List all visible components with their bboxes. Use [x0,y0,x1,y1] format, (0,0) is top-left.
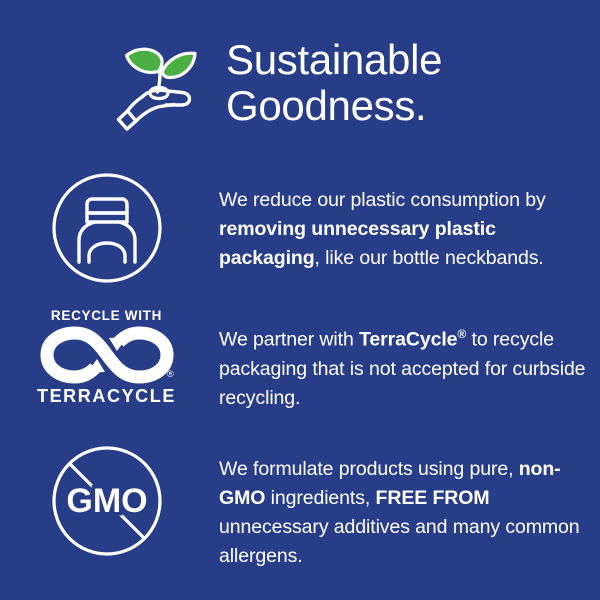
feature-row-plastic: We reduce our plastic consumption by rem… [0,172,600,284]
gmo-label: GMO [66,482,147,520]
terracycle-logo-icon: RECYCLE WITH ® TERRACYCLE [32,308,182,406]
text-seg-plain-3: We partner with [219,329,359,351]
hand-holding-sprout-icon [112,37,216,133]
bottle-neckband-circle-icon [51,172,163,284]
text-seg-bold-2: TerraCycle [359,329,457,351]
text-seg-plain-1: We reduce our plastic consumption by [219,189,546,211]
icon-cell-gmo: GMO [0,445,219,557]
registered-mark-glyph: ® [167,369,174,379]
icon-cell-plastic [0,172,219,284]
text-seg-plain-6: ingredients, [265,487,375,509]
text-seg-plain-7: unnecessary additives and many common al… [219,516,580,567]
feature-row-gmo: GMO We formulate products using pure, no… [0,445,600,571]
feature-text-gmo: We formulate products using pure, non-GM… [219,445,600,571]
terracycle-top-label: RECYCLE WITH [51,308,162,323]
text-seg-bold-4: FREE FROM [376,487,490,509]
feature-text-terracycle: We partner with TerraCycle® to recycle p… [219,308,600,413]
sustainable-goodness-panel: Sustainable Goodness. We reduce our plas… [0,0,600,600]
feature-text-plastic: We reduce our plastic consumption by rem… [219,172,600,273]
no-gmo-circle-icon: GMO [51,445,163,557]
terracycle-bottom-label: TERRACYCLE [37,386,176,406]
text-seg-registered: ® [457,327,466,341]
page-title: Sustainable Goodness. [226,37,442,129]
text-seg-plain-2: , like our bottle neckbands. [315,247,544,269]
header: Sustainable Goodness. [0,24,600,142]
feature-row-terracycle: RECYCLE WITH ® TERRACYCLE We partner wit… [0,308,600,413]
text-seg-plain-5: We formulate products using pure, [219,458,519,480]
icon-cell-terracycle: RECYCLE WITH ® TERRACYCLE [0,308,219,406]
infinity-arrows-mark: ® [39,326,175,384]
